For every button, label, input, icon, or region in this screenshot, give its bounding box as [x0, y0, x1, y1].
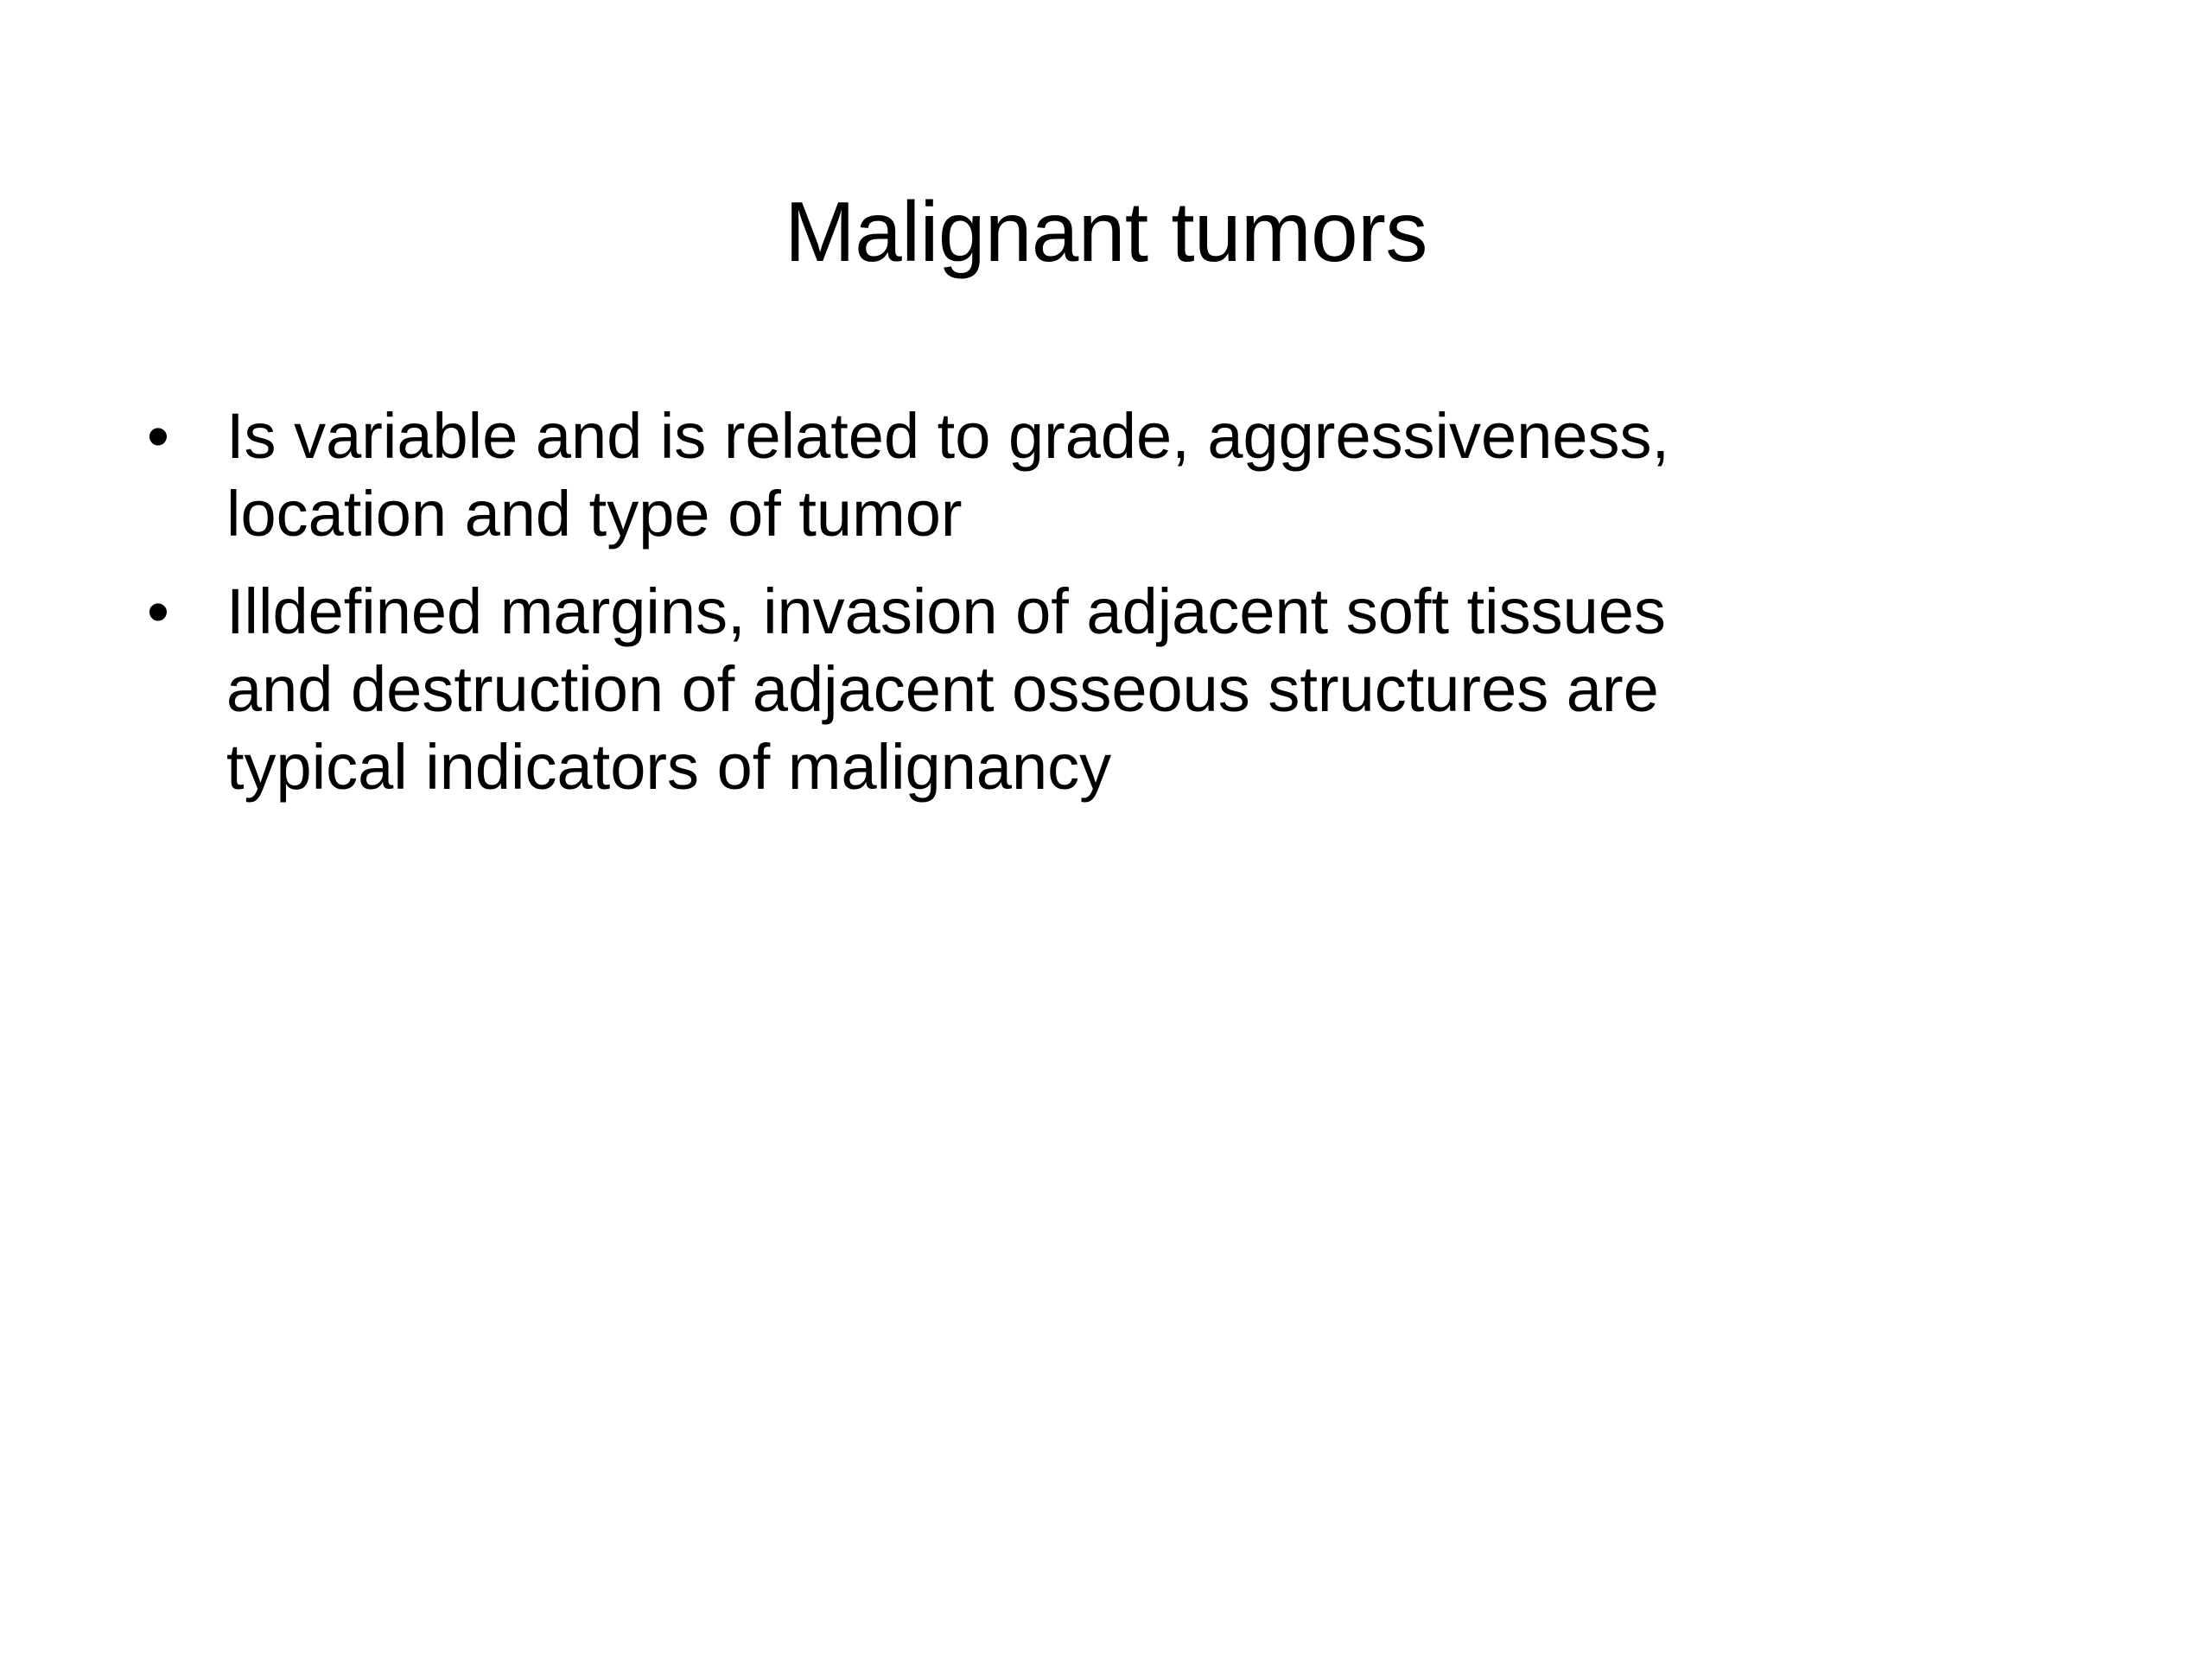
list-item-text: Illdefined margins, invasion of adjacent…: [226, 573, 2108, 807]
list-item-line: Is variable and is related to grade, agg…: [226, 397, 2108, 475]
page-title: Malignant tumors: [785, 187, 1427, 278]
list-item: • Illdefined margins, invasion of adjace…: [130, 573, 2108, 807]
list-item-line: location and type of tumor: [226, 475, 2108, 553]
list-item: • Is variable and is related to grade, a…: [130, 397, 2108, 554]
bullet-list: • Is variable and is related to grade, a…: [130, 397, 2108, 806]
presentation-slide: Malignant tumors • Is variable and is re…: [0, 0, 2212, 1659]
slide-title-placeholder: Malignant tumors: [138, 130, 2074, 334]
list-item-line: and destruction of adjacent osseous stru…: [226, 651, 2108, 728]
bullet-point-icon: •: [147, 397, 199, 475]
list-item-line: Illdefined margins, invasion of adjacent…: [226, 573, 2108, 651]
list-item-text: Is variable and is related to grade, agg…: [226, 397, 2108, 554]
slide-body-placeholder: • Is variable and is related to grade, a…: [130, 397, 2108, 806]
bullet-point-icon: •: [147, 573, 199, 651]
list-item-line: typical indicators of malignancy: [226, 728, 2108, 806]
